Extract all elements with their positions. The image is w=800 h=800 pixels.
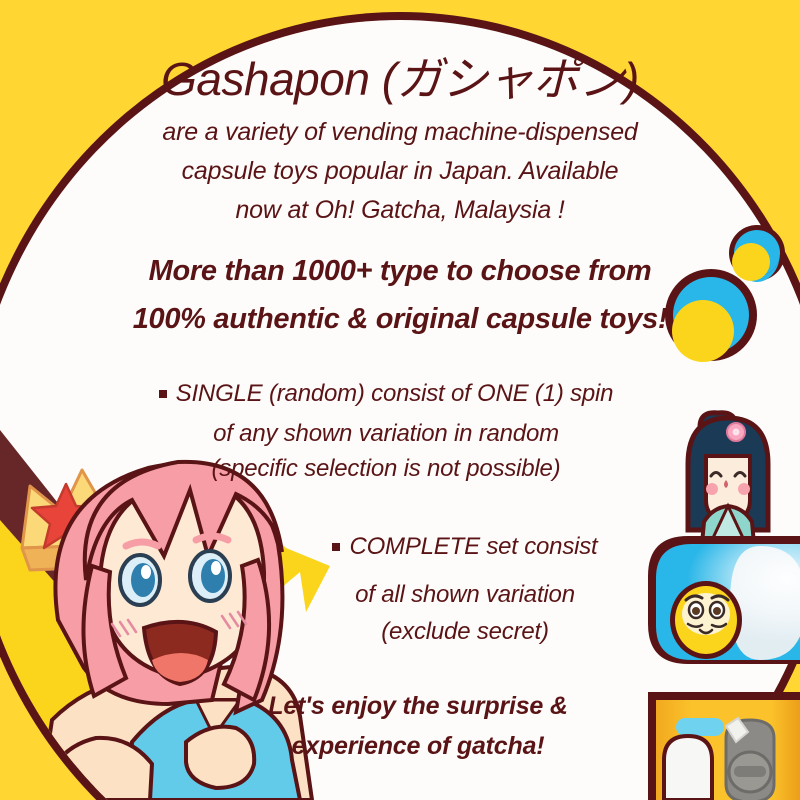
single-option-line-1: SINGLE (random) consist of ONE (1) spin [0, 382, 786, 406]
complete-option-line-3: (exclude secret) [65, 620, 800, 644]
single-option-text-1: SINGLE (random) consist of ONE (1) spin [176, 380, 614, 407]
square-bullet-icon [159, 390, 167, 398]
single-option-line-2: of any shown variation in random [0, 422, 786, 446]
single-option-line-3: (specific selection is not possible) [0, 457, 786, 481]
headline-line-2: 100% authentic & original capsule toys! [0, 305, 800, 334]
lede-line-3: now at Oh! Gatcha, Malaysia ! [0, 198, 800, 223]
complete-option-line-2: of all shown variation [65, 583, 800, 607]
square-bullet-icon [332, 543, 340, 551]
complete-option-line-1: COMPLETE set consist [65, 535, 800, 559]
page-title: Gashapon (ガシャポン) [0, 56, 800, 102]
outro-line-2: experience of gatcha! [18, 734, 800, 759]
outro-line-1: Let's enjoy the surprise & [18, 694, 800, 719]
gashapon-promo-poster: Gashapon (ガシャポン) are a variety of vendin… [0, 0, 800, 800]
complete-option-text-1: COMPLETE set consist [349, 533, 597, 560]
headline-line-1: More than 1000+ type to choose from [0, 257, 800, 286]
lede-line-1: are a variety of vending machine-dispens… [0, 120, 800, 145]
lede-line-2: capsule toys popular in Japan. Available [0, 159, 800, 184]
